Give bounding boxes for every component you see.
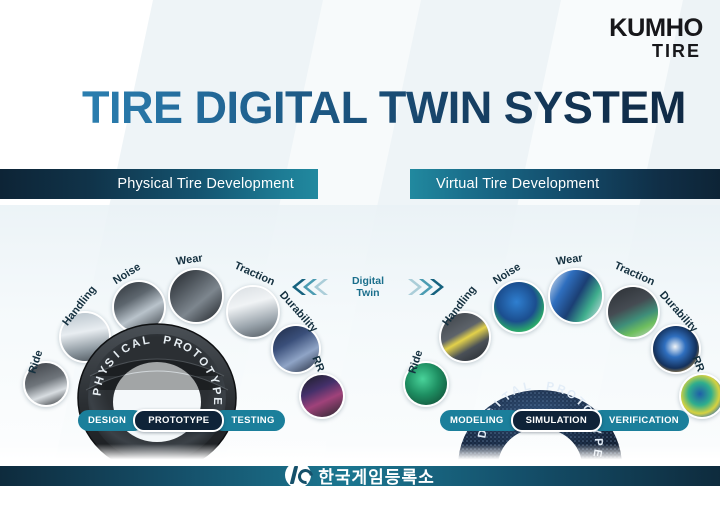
process-chip-simulation[interactable]: SIMULATION [511, 409, 602, 432]
section-banner-physical: Physical Tire Development [0, 169, 318, 199]
physical-attribute-label: Wear [175, 252, 203, 268]
process-chip-testing[interactable]: TESTING [213, 410, 284, 431]
virtual-tire-diagram: RideHandlingNoiseWearTractionDurabilityR… [388, 228, 718, 443]
virtual-process-chips: MODELING SIMULATION VERIFICATION [440, 410, 689, 431]
process-chip-prototype[interactable]: PROTOTYPE [133, 409, 224, 432]
page-title: TIRE DIGITAL TWIN SYSTEM [82, 82, 686, 134]
digital-twin-connector: Digital Twin [288, 266, 448, 308]
thumbnail-image [550, 270, 602, 322]
company-mark-icon [285, 466, 311, 486]
section-banner-physical-label: Physical Tire Development [117, 176, 294, 192]
logo-text-tire: TIRE [610, 42, 701, 60]
thumbnail-image [170, 270, 222, 322]
rolling-resistance-rig-photo [299, 373, 345, 419]
section-banner-virtual: Virtual Tire Development [410, 169, 720, 199]
footer-label: 한국게임등록소 [318, 466, 434, 486]
process-chip-modeling[interactable]: MODELING [440, 410, 522, 431]
slide-canvas: KUMHO TIRE TIRE DIGITAL TWIN SYSTEM Phys… [0, 0, 720, 514]
virtual-attribute-label: Traction [612, 260, 656, 288]
logo-text-kumho: KUMHO [609, 16, 703, 41]
process-chip-verification[interactable]: VERIFICATION [591, 410, 689, 431]
chevrons-right-icon [402, 277, 448, 297]
physical-attribute-label: Traction [232, 260, 276, 288]
footer-content: 한국게임등록소 [0, 466, 720, 486]
physical-process-chips: DESIGN PROTOTYPE TESTING [78, 410, 285, 431]
footer-strip: 한국게임등록소 [0, 466, 720, 486]
digital-twin-label-line2: Twin [342, 287, 394, 299]
digital-twin-label: Digital Twin [342, 275, 394, 299]
footer-fade [0, 444, 720, 466]
chevrons-left-icon [288, 277, 334, 297]
physical-tire-diagram: RideHandlingNoiseWearTractionDurabilityR… [8, 228, 338, 443]
section-banner-virtual-label: Virtual Tire Development [436, 176, 599, 192]
thumbnail-image [301, 375, 343, 417]
footer-bottom-mask [0, 486, 720, 514]
digital-twin-label-line1: Digital [342, 275, 394, 287]
virtual-attribute-label: Wear [555, 252, 583, 268]
kumho-tire-logo: KUMHO TIRE [610, 16, 702, 60]
